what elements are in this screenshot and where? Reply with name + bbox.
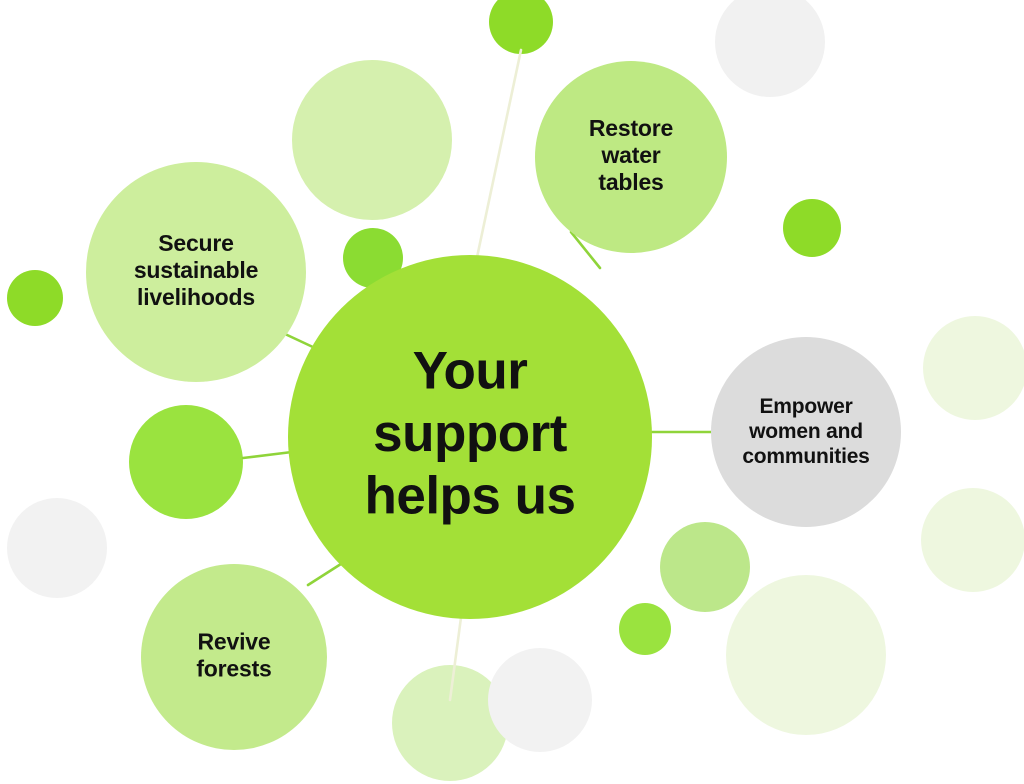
restore-water-tables-label: Restorewatertables [589,115,673,195]
satellite-node-restore-water-tables[interactable]: Restorewatertables [535,61,727,253]
label-line: communities [742,444,869,467]
deco-gray-top-right [715,0,825,97]
diagram-canvas: SecuresustainablelivelihoodsRestorewater… [0,0,1024,784]
deco-pale-green-bottom [392,665,508,781]
label-line: support [373,404,567,463]
label-line: forests [196,656,271,682]
label-line: tables [598,169,663,195]
connector-top-faint [476,50,521,262]
deco-pale-green-bottom-right [726,575,886,735]
revive-forests-label: Reviveforests [196,629,271,682]
connector-left-dot [243,452,292,458]
empower-women-and-communities-label: Empowerwomen andcommunities [742,395,869,468]
label-line: livelihoods [137,284,255,310]
deco-pale-green-right [923,316,1024,420]
deco-mid-green-lower-right [660,522,750,612]
deco-pale-green-top [292,60,452,220]
deco-pale-green-right-low [921,488,1024,592]
label-line: Restore [589,115,673,141]
label-line: sustainable [134,257,258,283]
bubble-diagram: SecuresustainablelivelihoodsRestorewater… [0,0,1024,784]
deco-bright-green-left [129,405,243,519]
satellite-node-empower-women-and-communities[interactable]: Empowerwomen andcommunities [711,337,901,527]
label-line: Your [413,341,528,400]
center-node[interactable]: Yoursupporthelps us [288,255,652,619]
label-line: women and [748,420,863,443]
label-line: helps us [364,467,575,526]
label-line: Empower [759,395,852,418]
deco-bright-green-lower-right [619,603,671,655]
deco-gray-bottom [488,648,592,752]
satellite-node-revive-forests[interactable]: Reviveforests [141,564,327,750]
deco-gray-left-low [7,498,107,598]
deco-bright-green-far-left [7,270,63,326]
label-line: water [600,142,660,168]
label-line: Secure [158,230,234,256]
satellite-node-secure-sustainable-livelihoods[interactable]: Securesustainablelivelihoods [86,162,306,382]
deco-bright-green-right [783,199,841,257]
deco-bright-green-top [489,0,553,54]
center-node-layer: Yoursupporthelps us [288,255,652,619]
label-line: Revive [198,629,271,655]
